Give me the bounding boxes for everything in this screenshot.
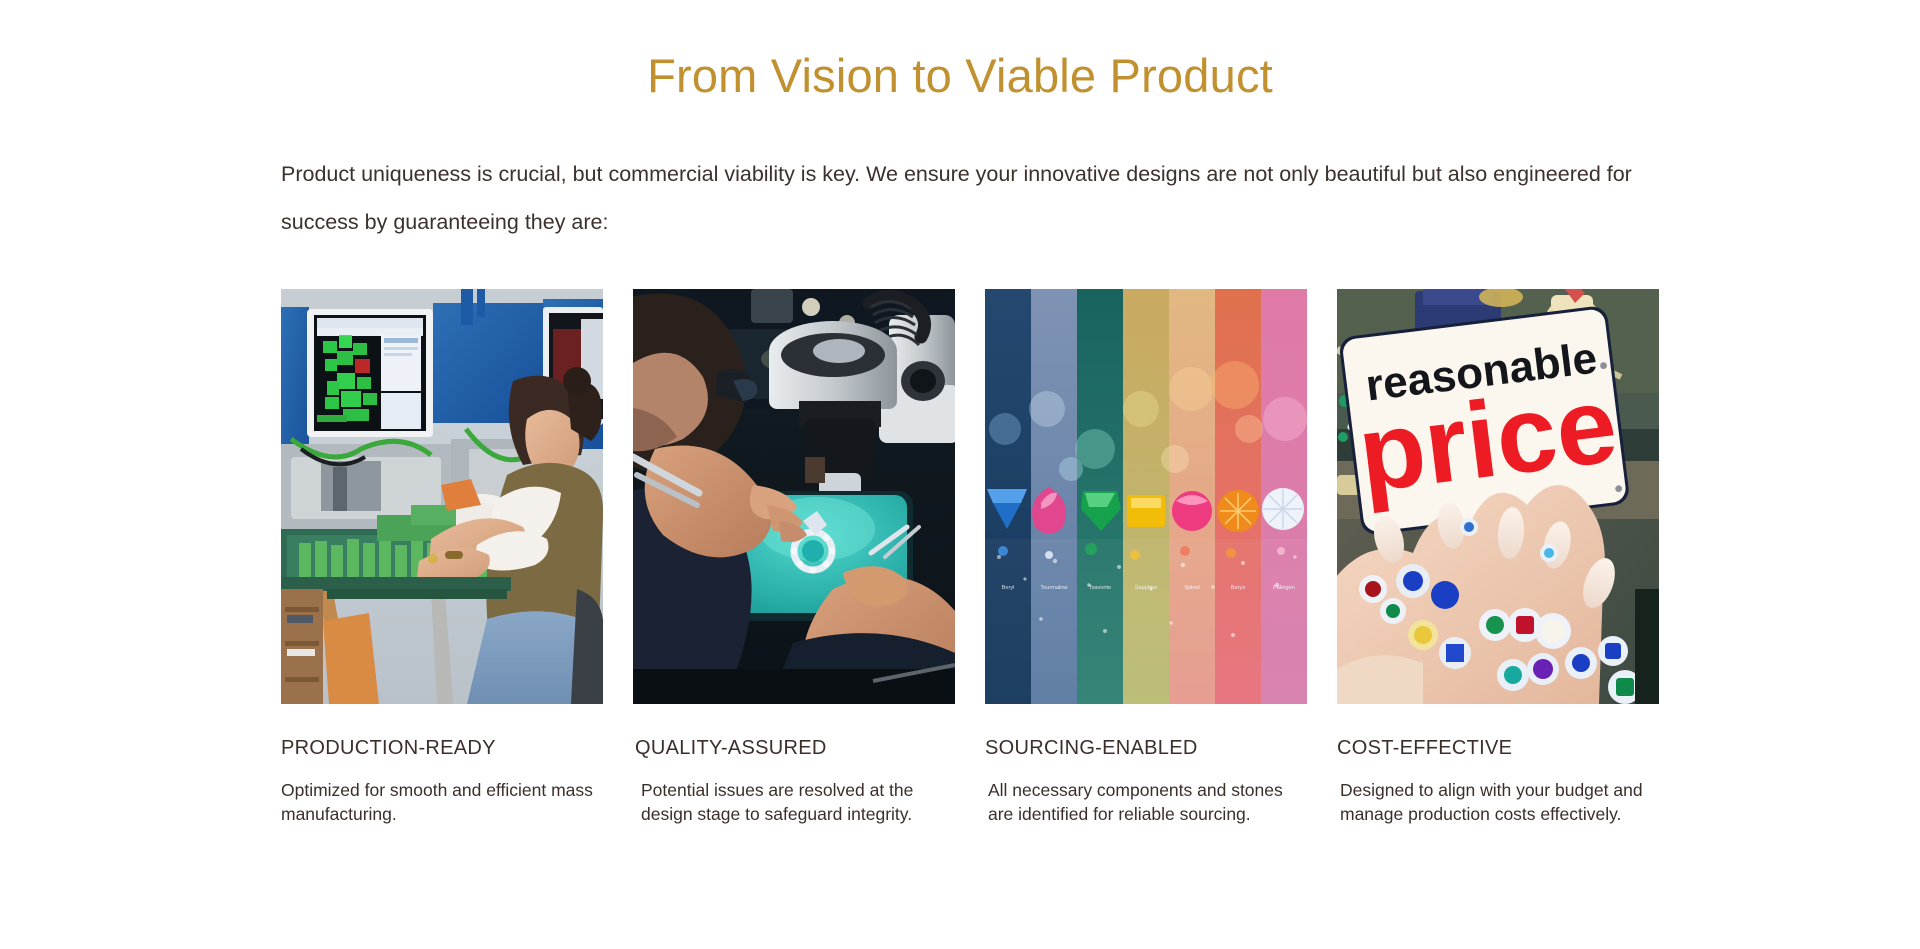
reasonable-price-rings-illustration: reasonable price	[1337, 289, 1659, 704]
pcb-assembly-worker-photo	[281, 289, 603, 704]
gem-label: Tsavorite	[1089, 585, 1111, 591]
feature-card-production-ready: PRODUCTION-READY Optimized for smooth an…	[281, 289, 603, 826]
card-title: COST-EFFECTIVE	[1337, 737, 1659, 760]
card-description: Designed to align with your budget and m…	[1337, 778, 1659, 826]
reasonable-price-rings-photo: reasonable price	[1337, 289, 1659, 704]
gem-label: Spinel	[1184, 585, 1200, 591]
gem-label: Tourmaline	[1040, 585, 1067, 591]
feature-card-grid: PRODUCTION-READY Optimized for smooth an…	[281, 289, 1653, 826]
gemstone-colour-panels-illustration: Beryl Tourmaline Tsavorite Sapphire Spin…	[985, 289, 1307, 704]
card-description: Optimized for smooth and efficient mass …	[281, 778, 603, 826]
feature-card-sourcing-enabled: Beryl Tourmaline Tsavorite Sapphire Spin…	[985, 289, 1307, 826]
page-root: From Vision to Viable Product Product un…	[0, 0, 1920, 949]
card-title: QUALITY-ASSURED	[633, 737, 955, 760]
card-description: All necessary components and stones are …	[985, 778, 1307, 826]
gem-label: Beryx	[1231, 585, 1246, 591]
card-description: Potential issues are resolved at the des…	[633, 778, 955, 826]
card-title: PRODUCTION-READY	[281, 737, 603, 760]
gem-label: Beryl	[1002, 585, 1015, 591]
gemstone-colour-panels-photo: Beryl Tourmaline Tsavorite Sapphire Spin…	[985, 289, 1307, 704]
gem-label: Palingen	[1273, 585, 1295, 591]
gem-label: Sapphire	[1135, 585, 1157, 591]
card-title: SOURCING-ENABLED	[985, 737, 1307, 760]
feature-card-quality-assured: QUALITY-ASSURED Potential issues are res…	[633, 289, 955, 826]
gemologist-microscope-photo	[633, 289, 955, 704]
intro-paragraph: Product uniqueness is crucial, but comme…	[281, 150, 1681, 246]
page-title: From Vision to Viable Product	[0, 48, 1920, 103]
gemologist-microscope-illustration	[633, 289, 955, 704]
pcb-assembly-worker-illustration	[281, 289, 603, 704]
feature-card-cost-effective: reasonable price	[1337, 289, 1659, 826]
